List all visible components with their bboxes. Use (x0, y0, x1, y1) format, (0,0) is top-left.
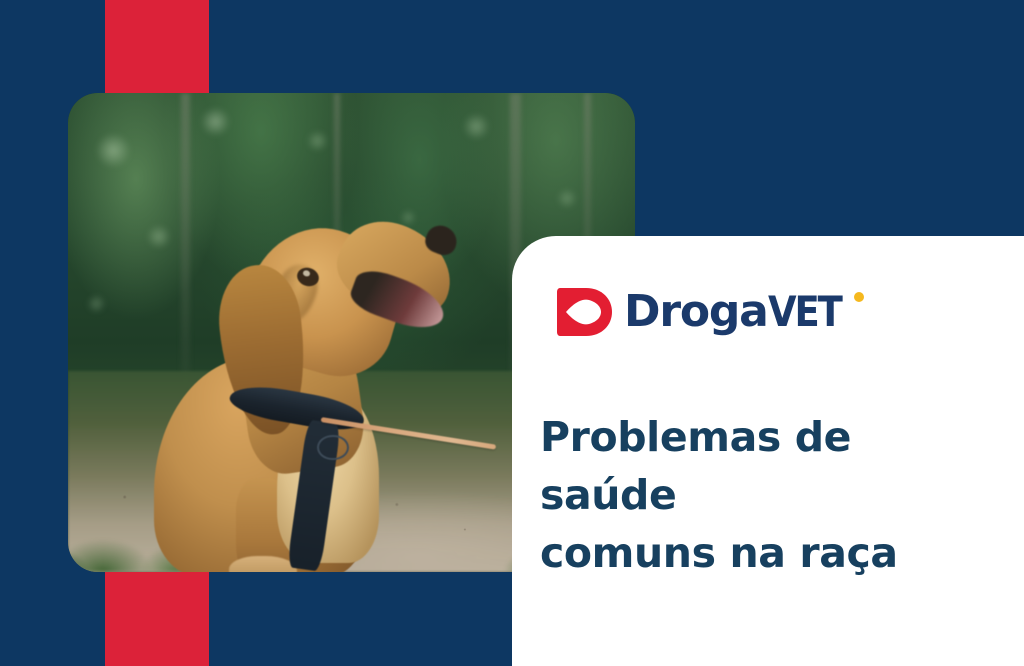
harness-ring-icon (317, 435, 348, 460)
content-card: DrogaVET Problemas de saúde comuns na ra… (512, 236, 1024, 666)
brand-name-vet: VET (768, 291, 841, 333)
headline-line-1: Problemas de saúde (540, 408, 980, 524)
brand-wordmark: DrogaVET (624, 290, 850, 334)
dog-figure (147, 222, 487, 572)
promo-banner: DrogaVET Problemas de saúde comuns na ra… (0, 0, 1024, 666)
brand-name-droga: Droga (624, 286, 768, 337)
headline: Problemas de saúde comuns na raça (540, 408, 980, 583)
brand-accent-dot-icon (854, 292, 864, 302)
headline-line-2: comuns na raça (540, 524, 980, 582)
drogavet-d-mark-icon (556, 284, 614, 340)
brand-logo[interactable]: DrogaVET (556, 284, 850, 340)
